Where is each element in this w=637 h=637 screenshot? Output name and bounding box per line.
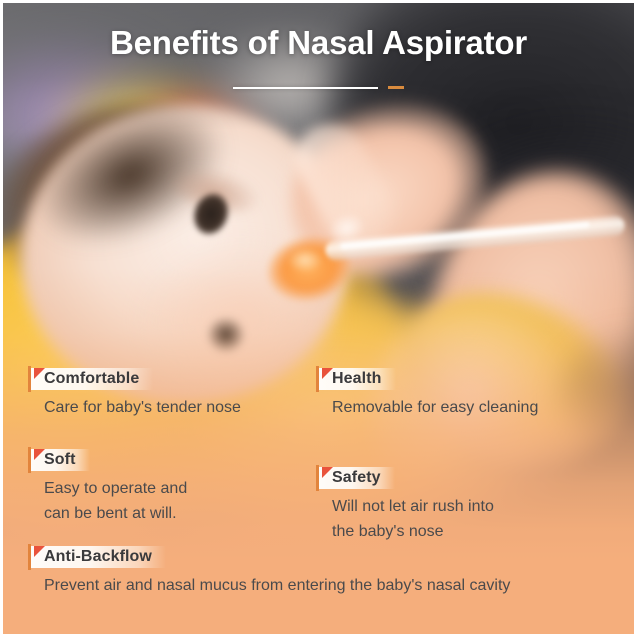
benefit-health: Health Removable for easy cleaning [316,368,626,421]
promo-poster: Benefits of Nasal Aspirator Comfortable … [0,0,637,637]
benefit-heading-chip: Anti-Backflow [28,546,166,568]
benefit-body: Will not let air rush into the baby's no… [316,495,626,545]
benefits-full-width-row: Anti-Backflow Prevent air and nasal mucu… [28,546,618,599]
accent-bar-icon [28,544,31,570]
photo-aspirator-highlight [288,248,322,272]
benefit-body-line: Removable for easy cleaning [332,396,626,421]
benefit-heading-chip: Comfortable [28,368,153,390]
accent-bar-icon [28,447,31,473]
divider-orange-segment [388,86,404,89]
photo-baby-eye-lower [208,318,244,352]
benefit-body-line: Will not let air rush into [332,495,626,520]
accent-bar-icon [316,366,319,392]
benefit-body-line: can be bent at will. [44,502,318,527]
title-divider [0,86,637,89]
benefits-left-column: Comfortable Care for baby's tender nose … [28,368,318,526]
benefit-heading: Safety [332,469,381,486]
divider-white-segment [233,87,378,89]
benefit-safety: Safety Will not let air rush into the ba… [316,467,626,545]
benefit-heading-chip: Health [316,368,396,390]
benefit-body: Easy to operate and can be bent at will. [28,477,318,527]
benefit-body-line: Care for baby's tender nose [44,396,318,421]
benefit-comfortable: Comfortable Care for baby's tender nose [28,368,318,421]
benefits-right-column: Health Removable for easy cleaning Safet… [316,368,626,544]
benefit-body: Prevent air and nasal mucus from enterin… [28,574,618,599]
benefit-body-line: Easy to operate and [44,477,318,502]
benefit-body-line: Prevent air and nasal mucus from enterin… [44,574,618,599]
benefit-soft: Soft Easy to operate and can be bent at … [28,449,318,527]
benefit-heading: Comfortable [44,370,139,387]
benefit-body: Removable for easy cleaning [316,396,626,421]
benefit-heading: Health [332,370,382,387]
accent-bar-icon [316,465,319,491]
benefit-anti-backflow: Anti-Backflow Prevent air and nasal mucu… [28,546,618,599]
benefit-heading: Anti-Backflow [44,548,152,565]
benefit-heading: Soft [44,451,76,468]
benefit-heading-chip: Safety [316,467,395,489]
benefit-heading-chip: Soft [28,449,90,471]
benefit-body: Care for baby's tender nose [28,396,318,421]
accent-bar-icon [28,366,31,392]
page-title: Benefits of Nasal Aspirator [0,24,637,62]
benefit-body-line: the baby's nose [332,520,626,545]
